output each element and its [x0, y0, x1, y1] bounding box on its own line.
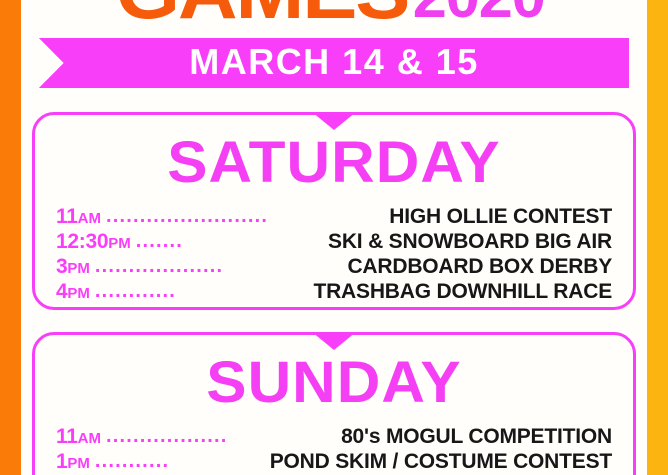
row-dot-leader: ............ [95, 281, 311, 301]
row-event-name: 80's MOGUL COMPETITION [341, 426, 612, 447]
row-time: 4PM [56, 281, 90, 302]
title-main-word: GAMES [116, 0, 409, 24]
row-meridiem: PM [67, 260, 90, 277]
schedule-row: 1PM ........... POND SKIM / COSTUME CONT… [56, 451, 612, 475]
row-meridiem: PM [108, 235, 131, 252]
schedule-row: 3PM ................... CARDBOARD BOX DE… [56, 256, 612, 281]
row-time: 1PM [56, 451, 90, 472]
schedule-list-sunday: 11AM .................. 80's MOGUL COMPE… [35, 412, 633, 475]
row-dot-leader: ....... [136, 231, 325, 251]
row-event-name: HIGH OLLIE CONTEST [389, 206, 612, 227]
row-dot-leader: ........................ [106, 206, 386, 226]
row-meridiem: AM [78, 430, 101, 447]
date-ribbon-inner: MARCH 14 & 15 [39, 38, 629, 88]
right-border-stripe [647, 0, 668, 475]
row-dot-leader: .................. [106, 426, 338, 446]
day-card-sunday: SUNDAY 11AM .................. 80's MOGU… [32, 332, 636, 475]
left-border-stripe [0, 0, 21, 475]
schedule-row: 4PM ............ TRASHBAG DOWNHILL RACE [56, 281, 612, 306]
row-meridiem: AM [78, 210, 101, 227]
date-ribbon-text: MARCH 14 & 15 [189, 44, 479, 82]
schedule-list-saturday: 11AM ........................ HIGH OLLIE… [35, 192, 633, 306]
poster-title: GAMES 2020 [21, 0, 647, 24]
row-time: 11AM [56, 426, 101, 447]
row-time: 11AM [56, 206, 101, 227]
row-event-name: POND SKIM / COSTUME CONTEST [270, 451, 612, 472]
day-heading-saturday: SATURDAY [23, 115, 645, 192]
row-meridiem: PM [67, 285, 90, 302]
poster-content: GAMES 2020 MARCH 14 & 15 SATURDAY 11AM .… [21, 0, 647, 475]
schedule-row: 11AM .................. 80's MOGUL COMPE… [56, 426, 612, 451]
date-ribbon: MARCH 14 & 15 [39, 38, 629, 88]
row-event-name: TRASHBAG DOWNHILL RACE [313, 281, 612, 302]
schedule-row: 11AM ........................ HIGH OLLIE… [56, 206, 612, 231]
title-year: 2020 [413, 0, 545, 24]
row-dot-leader: ........... [95, 451, 267, 471]
day-card-saturday: SATURDAY 11AM ........................ H… [32, 112, 636, 310]
row-time: 12:30PM [56, 231, 131, 252]
day-heading-sunday: SUNDAY [23, 335, 645, 412]
schedule-row: 12:30PM ....... SKI & SNOWBOARD BIG AIR [56, 231, 612, 256]
row-time: 3PM [56, 256, 90, 277]
row-dot-leader: ................... [95, 256, 345, 276]
row-event-name: SKI & SNOWBOARD BIG AIR [328, 231, 612, 252]
row-meridiem: PM [67, 455, 90, 472]
poster-canvas: GAMES 2020 MARCH 14 & 15 SATURDAY 11AM .… [0, 0, 668, 475]
row-event-name: CARDBOARD BOX DERBY [347, 256, 612, 277]
